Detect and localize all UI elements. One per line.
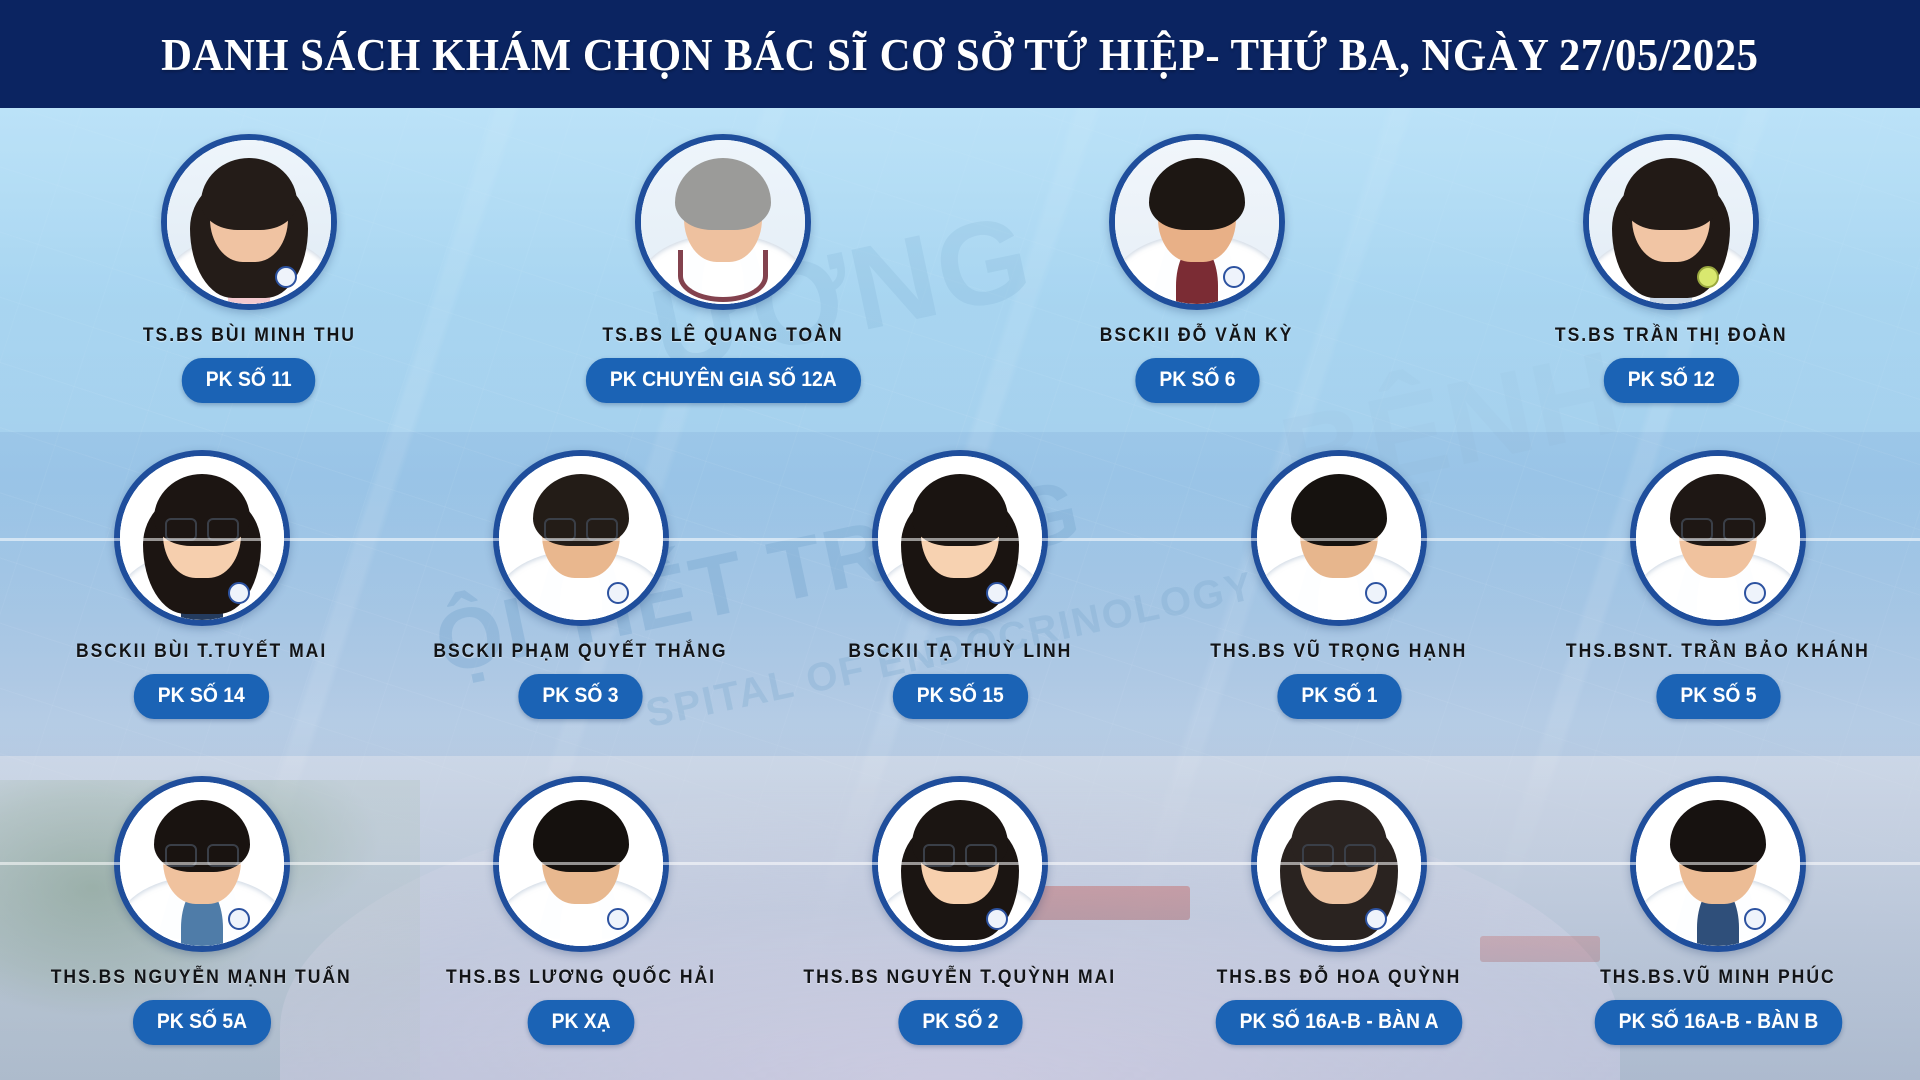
doctor-card[interactable]: BSCKII BÙI T.TUYẾT MAI PK SỐ 14 — [47, 432, 357, 719]
doctor-photo — [167, 140, 331, 304]
doctor-name: BSCKII BÙI T.TUYẾT MAI — [76, 640, 327, 662]
doctor-name: THS.BS LƯƠNG QUỐC HẢI — [446, 966, 716, 988]
doctor-row-3: THS.BS NGUYỄN MẠNH TUẤN PK SỐ 5A THS.B — [0, 756, 1920, 1080]
doctor-card[interactable]: TS.BS BÙI MINH THU PK SỐ 11 — [94, 108, 404, 403]
room-badge[interactable]: PK SỐ 5A — [133, 1000, 271, 1045]
doctor-name: TS.BS TRẦN THỊ ĐOÀN — [1555, 324, 1788, 346]
room-badge[interactable]: PK CHUYÊN GIA SỐ 12A — [586, 358, 861, 403]
avatar — [161, 134, 337, 310]
avatar — [1583, 134, 1759, 310]
avatar — [635, 134, 811, 310]
doctor-row-2: BSCKII BÙI T.TUYẾT MAI PK SỐ 14 — [0, 432, 1920, 756]
doctor-name: THS.BS VŨ TRỌNG HẠNH — [1211, 640, 1468, 662]
room-badge[interactable]: PK SỐ 12 — [1604, 358, 1739, 403]
doctor-card[interactable]: THS.BS VŨ TRỌNG HẠNH PK SỐ 1 — [1184, 432, 1494, 719]
doctor-name: THS.BS ĐỖ HOA QUỲNH — [1217, 966, 1462, 988]
room-badge[interactable]: PK SỐ 1 — [1277, 674, 1401, 719]
row-divider-2 — [0, 862, 1920, 865]
doctor-card[interactable]: TS.BS TRẦN THỊ ĐOÀN PK SỐ 12 — [1516, 108, 1826, 403]
room-badge[interactable]: PK SỐ 11 — [182, 358, 316, 403]
poster-header: DANH SÁCH KHÁM CHỌN BÁC SĨ CƠ SỞ TỨ HIỆP… — [0, 0, 1920, 108]
avatar — [1109, 134, 1285, 310]
doctor-card[interactable]: THS.BS ĐỖ HOA QUỲNH PK SỐ 16A-B - BÀN A — [1184, 756, 1494, 1045]
room-badge[interactable]: PK SỐ 3 — [519, 674, 643, 719]
doctor-card[interactable]: TS.BS LÊ QUANG TOÀN PK CHUYÊN GIA SỐ 12A — [568, 108, 878, 403]
doctor-name: TS.BS BÙI MINH THU — [142, 324, 355, 346]
doctor-rows-area: BỆNH ƯƠNG ỘI TIẾT TRUNG SPITAL OF ENDOCR… — [0, 108, 1920, 1080]
row-divider-1 — [0, 538, 1920, 541]
doctor-name: THS.BS NGUYỄN MẠNH TUẤN — [51, 966, 352, 988]
doctor-name: THS.BS NGUYỄN T.QUỲNH MAI — [804, 966, 1117, 988]
room-badge[interactable]: PK SỐ 16A-B - BÀN B — [1595, 1000, 1843, 1045]
doctor-name: BSCKII ĐỖ VĂN KỲ — [1100, 324, 1294, 346]
room-badge[interactable]: PK SỐ 5 — [1656, 674, 1780, 719]
doctor-photo — [1115, 140, 1279, 304]
doctor-name: TS.BS LÊ QUANG TOÀN — [602, 324, 843, 346]
doctor-card[interactable]: THS.BS NGUYỄN MẠNH TUẤN PK SỐ 5A — [47, 756, 357, 1045]
room-badge[interactable]: PK SỐ 2 — [898, 1000, 1022, 1045]
doctor-photo — [1589, 140, 1753, 304]
room-badge[interactable]: PK SỐ 15 — [893, 674, 1028, 719]
doctor-card[interactable]: THS.BS.VŨ MINH PHÚC PK SỐ 16A-B - BÀN B — [1563, 756, 1873, 1045]
doctor-card[interactable]: BSCKII TẠ THUỲ LINH PK SỐ 15 — [805, 432, 1115, 719]
doctor-card[interactable]: THS.BS LƯƠNG QUỐC HẢI PK XẠ — [426, 756, 736, 1045]
room-badge[interactable]: PK SỐ 14 — [134, 674, 269, 719]
doctor-name: THS.BSNT. TRẦN BẢO KHÁNH — [1566, 640, 1870, 662]
room-badge[interactable]: PK XẠ — [527, 1000, 634, 1045]
doctor-name: BSCKII TẠ THUỲ LINH — [848, 640, 1072, 662]
doctor-schedule-poster: DANH SÁCH KHÁM CHỌN BÁC SĨ CƠ SỞ TỨ HIỆP… — [0, 0, 1920, 1080]
doctor-card[interactable]: THS.BSNT. TRẦN BẢO KHÁNH PK SỐ 5 — [1563, 432, 1873, 719]
room-badge[interactable]: PK SỐ 6 — [1135, 358, 1259, 403]
doctor-name: THS.BS.VŨ MINH PHÚC — [1601, 966, 1837, 988]
page-title: DANH SÁCH KHÁM CHỌN BÁC SĨ CƠ SỞ TỨ HIỆP… — [161, 28, 1758, 81]
room-badge[interactable]: PK SỐ 16A-B - BÀN A — [1216, 1000, 1463, 1045]
doctor-card[interactable]: BSCKII PHẠM QUYẾT THẮNG PK SỐ 3 — [426, 432, 736, 719]
doctor-name: BSCKII PHẠM QUYẾT THẮNG — [434, 640, 728, 662]
doctor-card[interactable]: THS.BS NGUYỄN T.QUỲNH MAI PK SỐ 2 — [805, 756, 1115, 1045]
doctor-card[interactable]: BSCKII ĐỖ VĂN KỲ PK SỐ 6 — [1042, 108, 1352, 403]
doctor-photo — [641, 140, 805, 304]
doctor-row-1: TS.BS BÙI MINH THU PK SỐ 11 TS.BS LÊ Q — [0, 108, 1920, 432]
